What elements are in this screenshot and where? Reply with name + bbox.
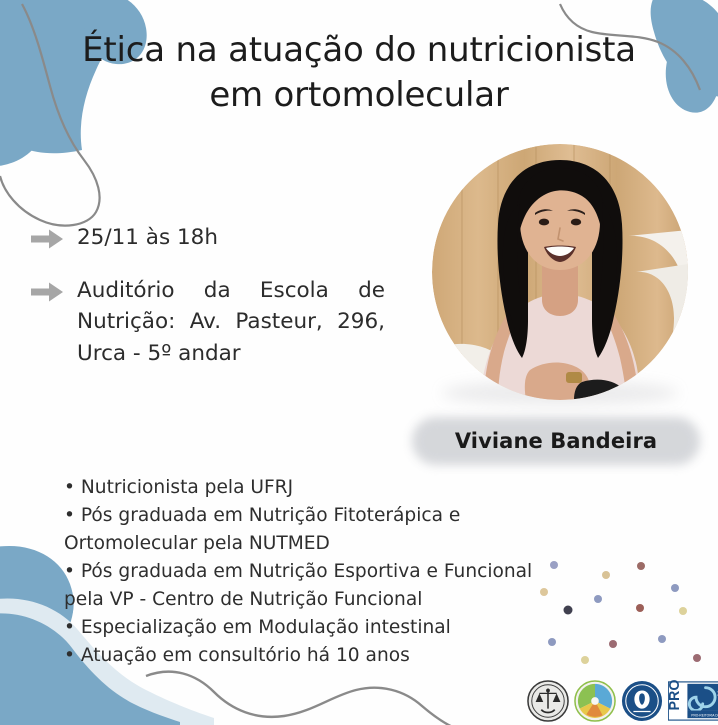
title-line-1: Ética na atuação do nutricionista bbox=[55, 28, 663, 73]
event-date-text: 25/11 às 18h bbox=[77, 222, 218, 253]
confetti-dot bbox=[548, 638, 556, 646]
confetti-dot bbox=[564, 606, 573, 615]
confetti-dot bbox=[594, 595, 602, 603]
credentials-list: • Nutricionista pela UFRJ • Pós graduada… bbox=[64, 474, 534, 670]
confetti-dot bbox=[540, 588, 548, 596]
confetti-dot bbox=[658, 635, 666, 643]
title-line-2: em ortomolecular bbox=[55, 73, 663, 118]
poster-canvas: Ética na atuação do nutricionista em ort… bbox=[0, 0, 718, 725]
confetti-dot bbox=[636, 604, 644, 612]
list-item: • Especialização em Modulação intestinal bbox=[64, 614, 534, 642]
speaker-photo-wrap bbox=[432, 144, 688, 400]
list-item: • Atuação em consultório há 10 anos bbox=[64, 642, 534, 670]
event-info-block: 25/11 às 18h Auditório da Escola de Nutr… bbox=[30, 222, 385, 391]
confetti-dot bbox=[693, 654, 701, 662]
event-venue-row: Auditório da Escola de Nutrição: Av. Pas… bbox=[30, 275, 385, 369]
confetti-dot bbox=[637, 562, 645, 570]
confetti-dot bbox=[609, 640, 617, 648]
svg-text:PRO-REITORIA DE: PRO-REITORIA DE bbox=[691, 713, 718, 717]
confetti-dot bbox=[679, 607, 687, 615]
avatar bbox=[432, 144, 688, 400]
confetti-dot bbox=[581, 656, 589, 664]
pro-spiral-logo: PRO XC PRO-REITORIA DE bbox=[668, 680, 718, 722]
nutrition-wheel-logo bbox=[574, 680, 616, 722]
arrow-right-icon bbox=[30, 281, 64, 303]
page-title: Ética na atuação do nutricionista em ort… bbox=[55, 28, 663, 118]
list-item: • Nutricionista pela UFRJ bbox=[64, 474, 534, 502]
svg-text:PRO: PRO bbox=[668, 680, 683, 711]
list-item: • Pós graduada em Nutrição Esportiva e F… bbox=[64, 558, 534, 614]
institution-circle-logo bbox=[621, 680, 663, 722]
speaker-name-badge: Viviane Bandeira bbox=[412, 417, 700, 465]
event-date-row: 25/11 às 18h bbox=[30, 222, 385, 253]
speaker-name: Viviane Bandeira bbox=[412, 417, 700, 465]
confetti-dot bbox=[602, 571, 610, 579]
confetti-dot bbox=[550, 561, 558, 569]
confetti-dot bbox=[671, 584, 679, 592]
confetti-dots bbox=[530, 552, 718, 667]
logo-strip: PRO XC PRO-REITORIA DE bbox=[527, 676, 717, 725]
arrow-right-icon bbox=[30, 228, 64, 250]
list-item: • Pós graduada em Nutrição Fitoterápica … bbox=[64, 502, 534, 558]
event-venue-text: Auditório da Escola de Nutrição: Av. Pas… bbox=[77, 275, 385, 369]
crn-seal-logo bbox=[527, 680, 569, 722]
